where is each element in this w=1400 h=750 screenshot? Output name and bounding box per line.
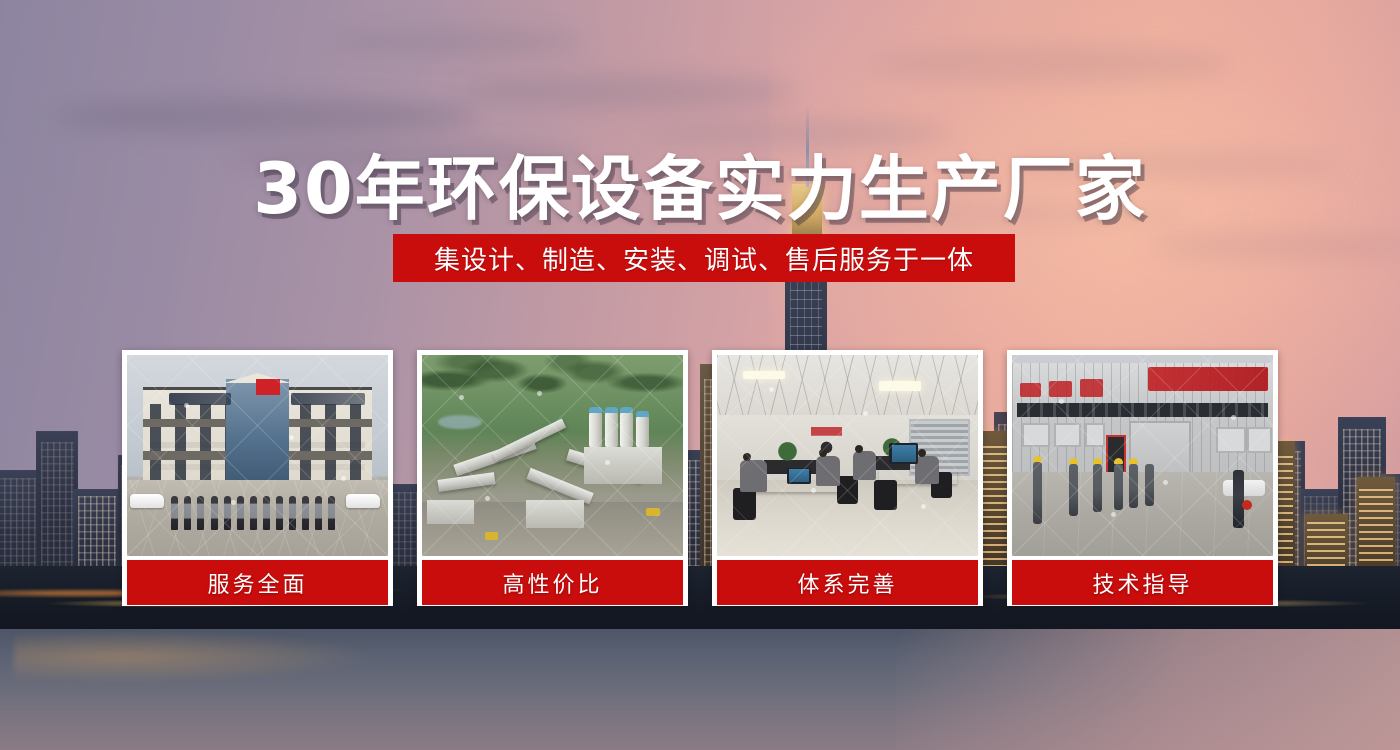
feature-card-value[interactable]: 高性价比 <box>417 350 688 606</box>
promo-banner: 30年环保设备实力生产厂家 集设计、制造、安装、调试、售后服务于一体 <box>0 0 1400 750</box>
card-caption-bar: 高性价比 <box>422 560 683 605</box>
subtitle-banner: 集设计、制造、安装、调试、售后服务于一体 <box>393 234 1015 282</box>
card-caption-label: 体系完善 <box>797 567 897 599</box>
card-caption-label: 高性价比 <box>502 567 602 599</box>
office-interior-photo <box>717 355 978 556</box>
card-caption-label: 服务全面 <box>207 567 307 599</box>
card-caption-label: 技术指导 <box>1092 567 1192 599</box>
cloud-wisp <box>336 30 588 53</box>
cloud-wisp <box>462 75 798 109</box>
instructor-figure <box>1233 470 1244 528</box>
desktop-monitor <box>889 443 918 463</box>
factory-slogan-sign <box>1148 367 1268 391</box>
building-phone-sign <box>291 393 364 405</box>
aerial-plant-photo <box>422 355 683 556</box>
subtitle-text: 集设计、制造、安装、调试、售后服务于一体 <box>434 240 974 277</box>
factory-workers-photo <box>1012 355 1273 556</box>
card-caption-bar: 服务全面 <box>127 560 388 605</box>
river-water-sunset-tint <box>896 629 1400 750</box>
water-light-reflection <box>14 630 378 683</box>
feature-card-service[interactable]: 服务全面 <box>122 350 393 606</box>
red-helmet <box>1242 500 1252 510</box>
feature-card-row: 服务全面 <box>122 350 1278 606</box>
feature-card-guidance[interactable]: 技术指导 <box>1007 350 1278 606</box>
company-headquarters-photo <box>127 355 388 556</box>
cloud-wisp <box>56 98 476 136</box>
feature-card-system[interactable]: 体系完善 <box>712 350 983 606</box>
building-sign <box>169 393 232 405</box>
card-caption-bar: 体系完善 <box>717 560 978 605</box>
page-title: 30年环保设备实力生产厂家 <box>0 133 1400 234</box>
cloud-wisp <box>868 45 1232 83</box>
desktop-monitor <box>787 468 810 484</box>
card-caption-bar: 技术指导 <box>1012 560 1273 605</box>
